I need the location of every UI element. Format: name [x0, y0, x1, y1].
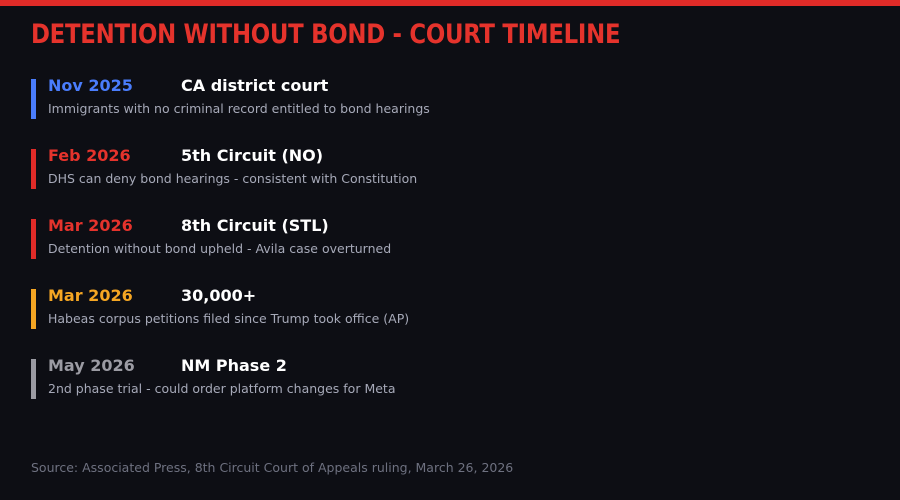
timeline-accent-bar-2 — [31, 149, 36, 189]
timeline-date-3: Mar 2026 — [48, 216, 181, 236]
timeline-date-2: Feb 2026 — [48, 146, 181, 166]
timeline-title-5: NM Phase 2 — [181, 356, 287, 376]
top-accent-bar — [0, 0, 900, 6]
timeline-list: Nov 2025 CA district court Immigrants wi… — [31, 76, 871, 426]
timeline-description-3: Detention without bond upheld - Avila ca… — [48, 241, 871, 257]
timeline-date-4: Mar 2026 — [48, 286, 181, 306]
timeline-date-5: May 2026 — [48, 356, 181, 376]
timeline-item-header-5: May 2026 NM Phase 2 — [48, 356, 871, 378]
timeline-item-header-1: Nov 2025 CA district court — [48, 76, 871, 98]
timeline-item-header-2: Feb 2026 5th Circuit (NO) — [48, 146, 871, 168]
timeline-item-4: Mar 2026 30,000+ Habeas corpus petitions… — [31, 286, 871, 356]
source-note: Source: Associated Press, 8th Circuit Co… — [31, 460, 513, 476]
timeline-date-1: Nov 2025 — [48, 76, 181, 96]
timeline-description-1: Immigrants with no criminal record entit… — [48, 101, 871, 117]
timeline-title-4: 30,000+ — [181, 286, 256, 306]
timeline-accent-bar-1 — [31, 79, 36, 119]
timeline-title-3: 8th Circuit (STL) — [181, 216, 329, 236]
timeline-description-2: DHS can deny bond hearings - consistent … — [48, 171, 871, 187]
timeline-accent-bar-4 — [31, 289, 36, 329]
timeline-title-2: 5th Circuit (NO) — [181, 146, 323, 166]
timeline-item-3: Mar 2026 8th Circuit (STL) Detention wit… — [31, 216, 871, 286]
timeline-item-5: May 2026 NM Phase 2 2nd phase trial - co… — [31, 356, 871, 426]
timeline-item-2: Feb 2026 5th Circuit (NO) DHS can deny b… — [31, 146, 871, 216]
timeline-item-header-4: Mar 2026 30,000+ — [48, 286, 871, 308]
page-title: DETENTION WITHOUT BOND - COURT TIMELINE — [31, 19, 620, 51]
timeline-description-5: 2nd phase trial - could order platform c… — [48, 381, 871, 397]
timeline-item-1: Nov 2025 CA district court Immigrants wi… — [31, 76, 871, 146]
timeline-accent-bar-5 — [31, 359, 36, 399]
timeline-item-header-3: Mar 2026 8th Circuit (STL) — [48, 216, 871, 238]
timeline-accent-bar-3 — [31, 219, 36, 259]
timeline-slide: DETENTION WITHOUT BOND - COURT TIMELINE … — [0, 0, 900, 500]
timeline-description-4: Habeas corpus petitions filed since Trum… — [48, 311, 871, 327]
timeline-title-1: CA district court — [181, 76, 328, 96]
